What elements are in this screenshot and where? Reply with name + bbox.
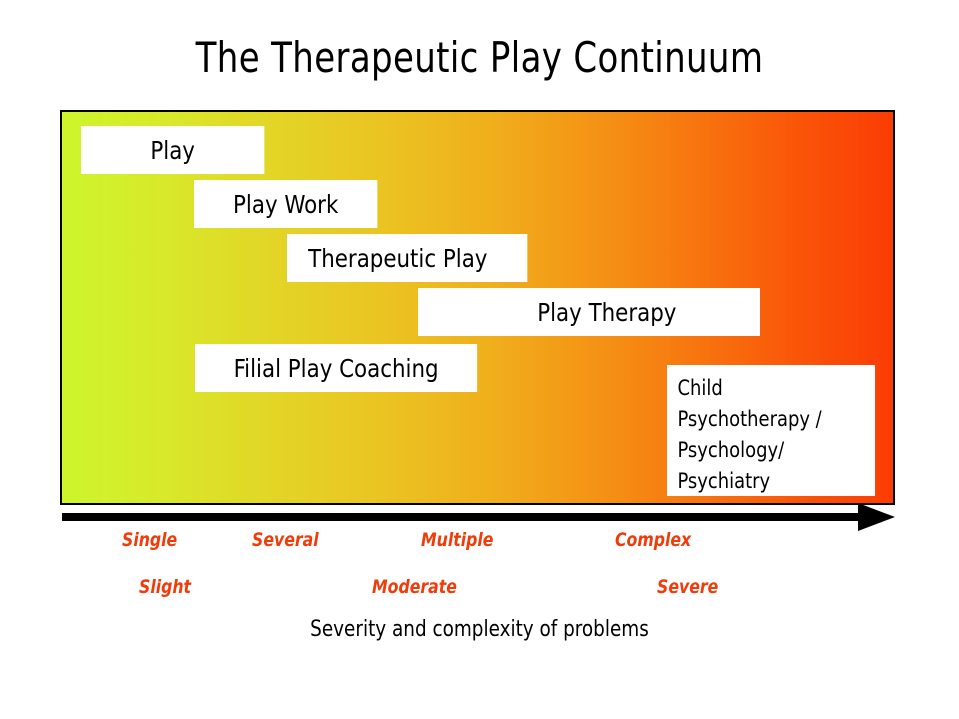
axis-label-single: Single: [122, 528, 177, 552]
slide-canvas: The Therapeutic Play Continuum Play Play…: [0, 0, 959, 719]
continuum-stage-label-line: Psychotherapy /: [677, 404, 875, 435]
axis-label-slight: Slight: [139, 575, 191, 599]
continuum-stage-label-line: Psychiatry: [677, 466, 875, 497]
continuum-stage-play-work: Play Work: [194, 180, 377, 228]
axis-label-complex: Complex: [615, 528, 691, 552]
continuum-stage-label: Play Work: [233, 192, 338, 217]
continuum-stage-label: Therapeutic Play: [308, 246, 487, 271]
continuum-stage-play-therapy: Play Therapy: [418, 288, 760, 336]
axis-caption: Severity and complexity of problems: [34, 616, 926, 644]
axis-label-severe: Severe: [657, 575, 718, 599]
continuum-stage-label: Play: [150, 138, 195, 163]
continuum-stage-label: Filial Play Coaching: [234, 356, 439, 381]
page-title: The Therapeutic Play Continuum: [48, 32, 911, 84]
continuum-stage-label-line: Psychology/: [677, 435, 875, 466]
axis-label-several: Several: [252, 528, 319, 552]
axis-label-moderate: Moderate: [372, 575, 457, 599]
continuum-stage-child-psychotherapy: Child Psychotherapy / Psychology/ Psychi…: [667, 365, 875, 496]
continuum-stage-filial-play-coaching: Filial Play Coaching: [195, 344, 477, 392]
continuum-stage-therapeutic-play: Therapeutic Play: [287, 234, 527, 282]
severity-axis-arrow-shaft: [62, 513, 872, 521]
continuum-stage-label-line: Child: [677, 373, 875, 404]
continuum-stage-label: Play Therapy: [537, 300, 676, 325]
axis-label-multiple: Multiple: [421, 528, 493, 552]
arrow-right-icon: [858, 503, 895, 531]
continuum-gradient-panel: Play Play Work Therapeutic Play Play The…: [60, 110, 895, 505]
continuum-stage-play: Play: [81, 126, 264, 174]
